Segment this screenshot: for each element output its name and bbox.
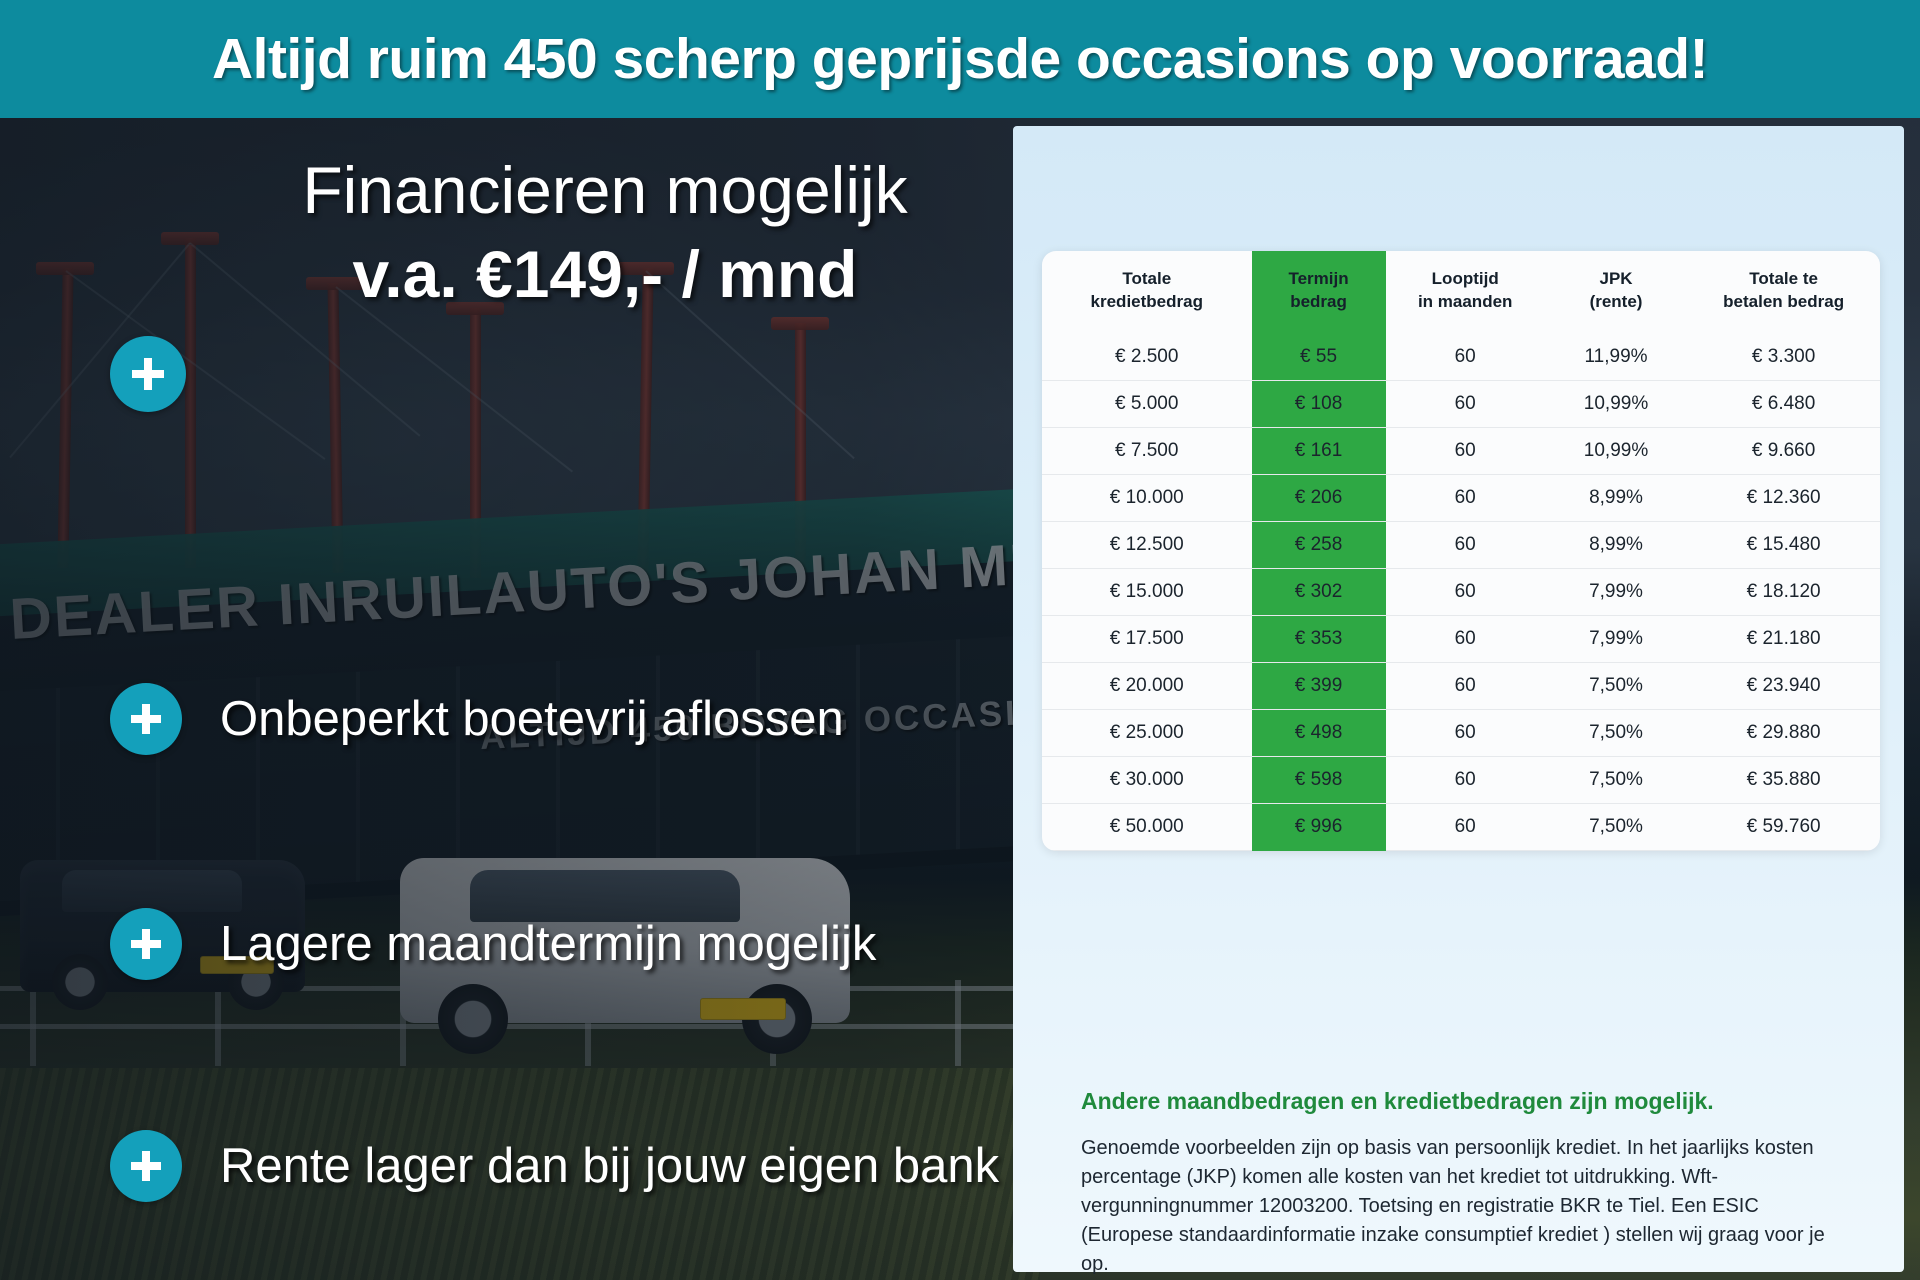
cell-krediet: € 17.500 <box>1042 615 1252 662</box>
cell-totaal: € 15.480 <box>1687 521 1880 568</box>
table-row: € 25.000 € 498 60 7,50% € 29.880 <box>1042 709 1880 756</box>
col-header-krediet-l2: kredietbedrag <box>1091 292 1203 311</box>
col-header-looptijd-l1: Looptijd <box>1432 269 1499 288</box>
cell-krediet: € 15.000 <box>1042 568 1252 615</box>
cell-jpk: 11,99% <box>1545 334 1687 381</box>
cell-jpk: 10,99% <box>1545 380 1687 427</box>
cell-totaal: € 29.880 <box>1687 709 1880 756</box>
cell-looptijd: 60 <box>1386 615 1545 662</box>
cell-totaal: € 35.880 <box>1687 756 1880 803</box>
plus-icon-badge-2 <box>110 908 182 980</box>
table-row-filler <box>1042 850 1880 851</box>
table-row: € 30.000 € 598 60 7,50% € 35.880 <box>1042 756 1880 803</box>
note-heading: Andere maandbedragen en kredietbedragen … <box>1081 1088 1714 1115</box>
benefit-item-3: Rente lager dan bij jouw eigen bank <box>110 1130 1010 1202</box>
table-row: € 20.000 € 399 60 7,50% € 23.940 <box>1042 662 1880 709</box>
cell-jpk: 7,99% <box>1545 615 1687 662</box>
cell-termijn: € 353 <box>1252 615 1386 662</box>
cell-termijn: € 996 <box>1252 803 1386 850</box>
cell-totaal: € 3.300 <box>1687 334 1880 381</box>
cell-totaal: € 23.940 <box>1687 662 1880 709</box>
cell-krediet: € 12.500 <box>1042 521 1252 568</box>
cell-jpk: 8,99% <box>1545 474 1687 521</box>
cell-totaal: € 6.480 <box>1687 380 1880 427</box>
cell-termijn: € 598 <box>1252 756 1386 803</box>
cell-jpk: 7,50% <box>1545 662 1687 709</box>
table-row: € 17.500 € 353 60 7,99% € 21.180 <box>1042 615 1880 662</box>
cell-looptijd: 60 <box>1386 709 1545 756</box>
col-header-looptijd-l2: in maanden <box>1418 292 1512 311</box>
cell-krediet: € 30.000 <box>1042 756 1252 803</box>
table-row: € 15.000 € 302 60 7,99% € 18.120 <box>1042 568 1880 615</box>
col-header-jpk-l2: (rente) <box>1590 292 1643 311</box>
table-row: € 10.000 € 206 60 8,99% € 12.360 <box>1042 474 1880 521</box>
cell-looptijd: 60 <box>1386 427 1545 474</box>
cell-krediet: € 2.500 <box>1042 334 1252 381</box>
cell-filler <box>1687 850 1880 851</box>
benefit-label-3: Rente lager dan bij jouw eigen bank <box>220 1138 999 1194</box>
cell-termijn: € 302 <box>1252 568 1386 615</box>
cell-filler <box>1386 850 1545 851</box>
cell-totaal: € 9.660 <box>1687 427 1880 474</box>
rates-table-body: € 2.500 € 55 60 11,99% € 3.300 € 5.000 €… <box>1042 334 1880 851</box>
cell-jpk: 10,99% <box>1545 427 1687 474</box>
plus-icon <box>126 924 166 964</box>
cell-looptijd: 60 <box>1386 756 1545 803</box>
cell-jpk: 7,50% <box>1545 803 1687 850</box>
table-row: € 50.000 € 996 60 7,50% € 59.760 <box>1042 803 1880 850</box>
headline-line-1: Financieren mogelijk <box>210 148 1000 232</box>
cell-termijn: € 108 <box>1252 380 1386 427</box>
cell-filler <box>1042 850 1252 851</box>
benefit-label-1: Onbeperkt boetevrij aflossen <box>220 691 844 747</box>
cell-krediet: € 50.000 <box>1042 803 1252 850</box>
cell-looptijd: 60 <box>1386 521 1545 568</box>
col-header-krediet: Totale kredietbedrag <box>1042 252 1252 334</box>
cell-jpk: 8,99% <box>1545 521 1687 568</box>
col-header-totaal-l2: betalen bedrag <box>1723 292 1844 311</box>
banner-headline: Altijd ruim 450 scherp geprijsde occasio… <box>212 26 1708 92</box>
benefit-item-1: Onbeperkt boetevrij aflossen <box>110 683 1010 755</box>
cell-totaal: € 59.760 <box>1687 803 1880 850</box>
cell-krediet: € 7.500 <box>1042 427 1252 474</box>
table-row: € 12.500 € 258 60 8,99% € 15.480 <box>1042 521 1880 568</box>
cell-looptijd: 60 <box>1386 334 1545 381</box>
plus-icon <box>126 352 170 396</box>
cell-totaal: € 12.360 <box>1687 474 1880 521</box>
headline-block: Financieren mogelijk v.a. €149,- / mnd <box>210 148 1000 317</box>
benefit-item-2: Lagere maandtermijn mogelijk <box>110 908 1010 980</box>
advertisement-banner: Altijd ruim 450 scherp geprijsde occasio… <box>0 0 1920 1280</box>
rates-card: Totale kredietbedrag Termijn bedrag Loop… <box>1042 251 1880 851</box>
headline-line-2: v.a. €149,- / mnd <box>210 232 1000 316</box>
cell-termijn: € 55 <box>1252 334 1386 381</box>
col-header-jpk: JPK (rente) <box>1545 252 1687 334</box>
cell-termijn: € 498 <box>1252 709 1386 756</box>
plus-icon-badge-headline <box>110 336 186 412</box>
col-header-termijn-l2: bedrag <box>1290 292 1347 311</box>
col-header-jpk-l1: JPK <box>1599 269 1632 288</box>
cell-looptijd: 60 <box>1386 474 1545 521</box>
left-content: Financieren mogelijk v.a. €149,- / mnd O… <box>0 118 1020 1280</box>
plus-icon <box>126 699 166 739</box>
cell-krediet: € 20.000 <box>1042 662 1252 709</box>
plus-icon-badge-1 <box>110 683 182 755</box>
col-header-totaal-l1: Totale te <box>1749 269 1818 288</box>
cell-termijn: € 206 <box>1252 474 1386 521</box>
cell-looptijd: 60 <box>1386 568 1545 615</box>
col-header-looptijd: Looptijd in maanden <box>1386 252 1545 334</box>
plus-icon <box>126 1146 166 1186</box>
cell-totaal: € 21.180 <box>1687 615 1880 662</box>
cell-jpk: 7,50% <box>1545 756 1687 803</box>
table-header-row: Totale kredietbedrag Termijn bedrag Loop… <box>1042 252 1880 334</box>
note-body: Genoemde voorbeelden zijn op basis van p… <box>1081 1134 1841 1279</box>
benefit-label-2: Lagere maandtermijn mogelijk <box>220 916 876 972</box>
cell-looptijd: 60 <box>1386 803 1545 850</box>
cell-filler <box>1545 850 1687 851</box>
table-row: € 2.500 € 55 60 11,99% € 3.300 <box>1042 334 1880 381</box>
cell-krediet: € 25.000 <box>1042 709 1252 756</box>
cell-termijn: € 399 <box>1252 662 1386 709</box>
col-header-termijn-l1: Termijn <box>1288 269 1348 288</box>
table-row: € 5.000 € 108 60 10,99% € 6.480 <box>1042 380 1880 427</box>
rates-table: Totale kredietbedrag Termijn bedrag Loop… <box>1042 251 1880 851</box>
body-area: DEALER INRUILAUTO'S JOHAN MEURE ALTIJD 4… <box>0 118 1920 1280</box>
cell-jpk: 7,99% <box>1545 568 1687 615</box>
col-header-totaal: Totale te betalen bedrag <box>1687 252 1880 334</box>
cell-termijn: € 258 <box>1252 521 1386 568</box>
table-row: € 7.500 € 161 60 10,99% € 9.660 <box>1042 427 1880 474</box>
cell-krediet: € 10.000 <box>1042 474 1252 521</box>
col-header-termijn: Termijn bedrag <box>1252 252 1386 334</box>
cell-termijn: € 161 <box>1252 427 1386 474</box>
cell-totaal: € 18.120 <box>1687 568 1880 615</box>
col-header-krediet-l1: Totale <box>1122 269 1171 288</box>
financing-panel: Totale kredietbedrag Termijn bedrag Loop… <box>1013 126 1904 1272</box>
cell-jpk: 7,50% <box>1545 709 1687 756</box>
cell-looptijd: 60 <box>1386 662 1545 709</box>
rates-table-head: Totale kredietbedrag Termijn bedrag Loop… <box>1042 252 1880 334</box>
cell-filler-highlight <box>1252 850 1386 851</box>
top-banner: Altijd ruim 450 scherp geprijsde occasio… <box>0 0 1920 118</box>
plus-icon-badge-3 <box>110 1130 182 1202</box>
cell-krediet: € 5.000 <box>1042 380 1252 427</box>
cell-looptijd: 60 <box>1386 380 1545 427</box>
